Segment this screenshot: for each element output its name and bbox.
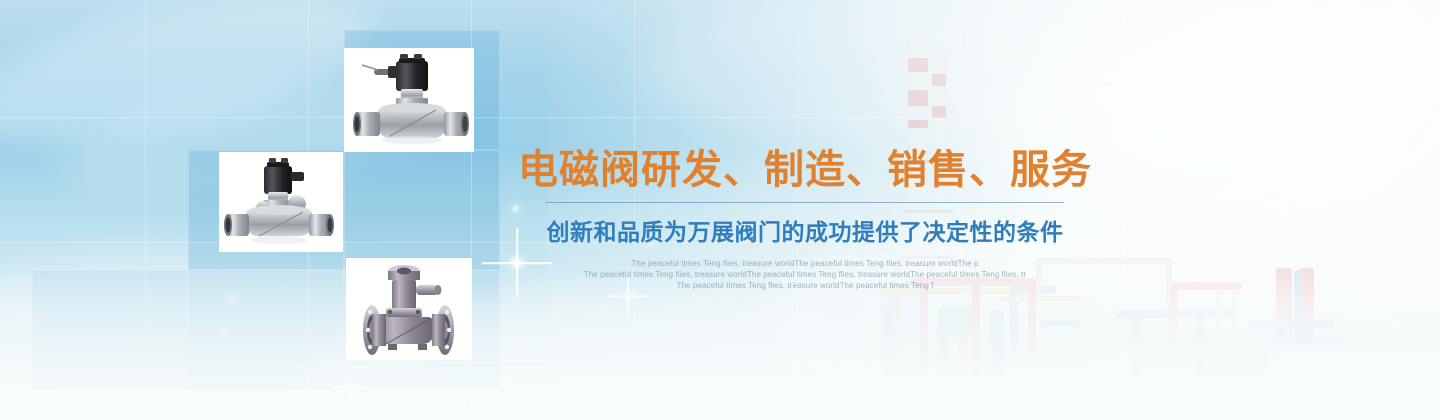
bokeh-dot (228, 295, 237, 304)
product-card-solenoid-valve-threaded-left[interactable] (219, 152, 343, 252)
solenoid-valve-threaded-left-photo (219, 152, 343, 252)
solenoid-valve-flanged-photo (346, 258, 472, 360)
mosaic-tile (344, 150, 500, 270)
banner-blurb: The peaceful times Teng flies, treasure … (505, 258, 1105, 291)
product-card-solenoid-valve-threaded-top[interactable] (344, 48, 474, 152)
bokeh-dot (700, 296, 704, 300)
headline-divider (546, 202, 1064, 203)
product-card-solenoid-valve-flanged[interactable] (346, 258, 472, 360)
blurb-line-3: The peaceful times Teng flies, treasure … (505, 280, 1105, 291)
blurb-line-1: The peaceful times Teng flies, treasure … (505, 258, 1105, 269)
hero-banner: 电磁阀研发、制造、销售、服务 创新和品质为万展阀门的成功提供了决定性的条件 Th… (0, 0, 1440, 420)
banner-subheadline: 创新和品质为万展阀门的成功提供了决定性的条件 (505, 213, 1105, 247)
banner-headline: 电磁阀研发、制造、销售、服务 (505, 148, 1105, 193)
solenoid-valve-threaded-top-photo (344, 48, 474, 152)
bokeh-dot (222, 327, 228, 333)
banner-text-block: 电磁阀研发、制造、销售、服务 创新和品质为万展阀门的成功提供了决定性的条件 Th… (505, 148, 1105, 291)
bottom-haze (0, 270, 1440, 420)
blurb-line-2: The peaceful times Teng flies, treasure … (505, 269, 1105, 280)
